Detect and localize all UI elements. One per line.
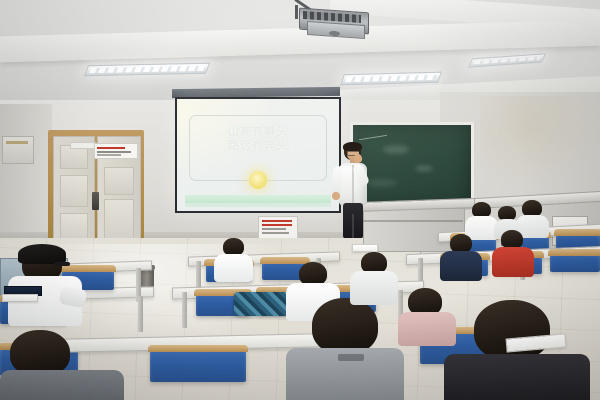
student-left-back xyxy=(350,252,398,302)
papers-desk xyxy=(2,294,38,302)
student-right-pink xyxy=(398,288,458,348)
wall-notice xyxy=(258,216,298,240)
shirt-logo xyxy=(338,354,364,361)
desk-leg xyxy=(418,258,423,282)
papers-desk xyxy=(352,244,378,252)
chair xyxy=(150,348,246,382)
projector-icon xyxy=(293,4,369,32)
desk-leg xyxy=(182,292,187,328)
desk-leg xyxy=(138,296,143,332)
student-mid-grey xyxy=(0,330,120,400)
slide-line-1: 山高有攀头 xyxy=(177,125,339,139)
door-handle[interactable] xyxy=(92,192,99,210)
glasses-icon xyxy=(54,262,70,266)
student-left-cap xyxy=(8,244,80,322)
wall-stain xyxy=(480,96,600,186)
door-sign xyxy=(70,142,96,149)
screen-surface: 山高有攀头 路远有奔头 xyxy=(175,97,341,213)
slide-line-2: 路远有奔头 xyxy=(177,139,339,153)
wall-box xyxy=(2,136,34,164)
classroom-door[interactable] xyxy=(48,130,144,242)
student-front-grey xyxy=(286,298,402,400)
slide-sun-icon xyxy=(249,171,267,189)
student-right-navy xyxy=(440,234,480,278)
glasses-icon xyxy=(501,241,519,246)
chair xyxy=(550,252,600,272)
presenter xyxy=(332,142,374,238)
slide-accent-band xyxy=(185,195,331,203)
student-mid-white-1 xyxy=(214,238,252,280)
slide-accent-band-soft xyxy=(185,203,331,207)
projection-screen: 山高有攀头 路远有奔头 xyxy=(172,88,340,218)
classroom-scene: 山高有攀头 路远有奔头 xyxy=(0,0,600,400)
student-right-red xyxy=(492,230,532,276)
cap-icon xyxy=(18,244,66,264)
backpack-camo xyxy=(234,292,292,316)
door-notice xyxy=(94,143,138,159)
